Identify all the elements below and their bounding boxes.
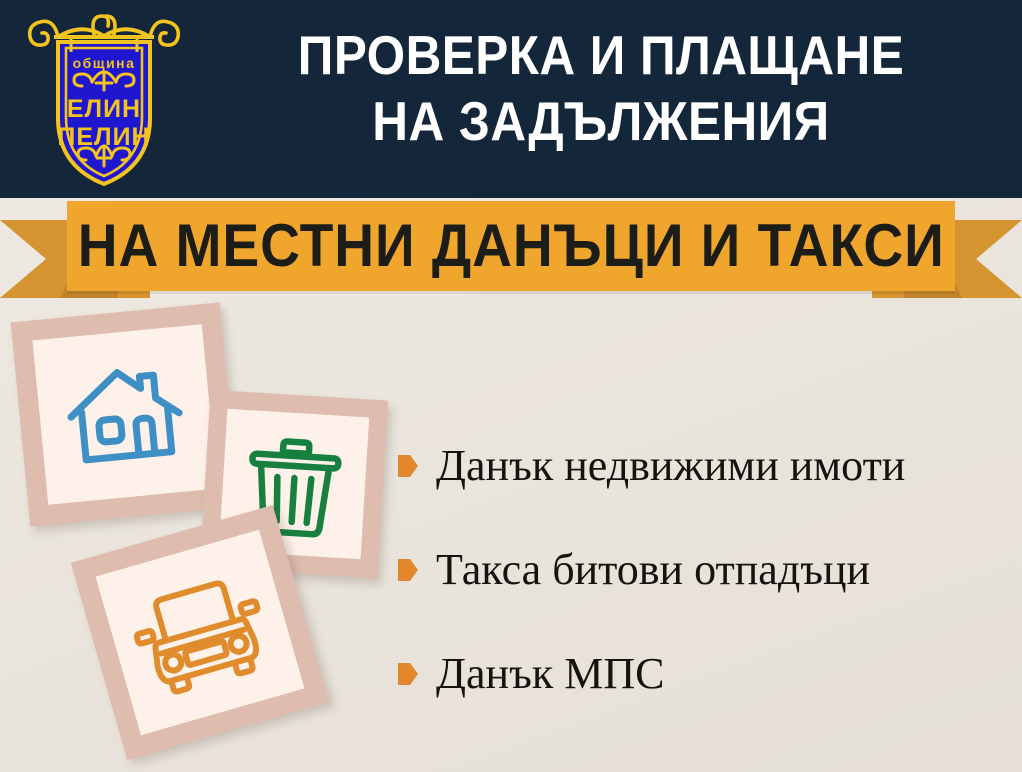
elin-pelin-coat-of-arms-logo: община ЕЛИН ПЕЛИН (24, 6, 184, 192)
logo-name-line-1: ЕЛИН (67, 95, 141, 123)
ribbon-main-panel: НА МЕСТНИ ДАНЪЦИ И ТАКСИ (67, 201, 955, 291)
list-item[interactable]: Такса битови отпадъци (398, 518, 1018, 622)
poster-canvas: община ЕЛИН ПЕЛИН (0, 0, 1022, 772)
ribbon-text: НА МЕСТНИ ДАНЪЦИ И ТАКСИ (77, 215, 944, 277)
tax-item-label: Данък недвижими имоти (436, 441, 905, 491)
arrow-bullet-icon (398, 455, 418, 477)
car-icon (122, 561, 278, 704)
vehicle-stamp-paper (96, 530, 305, 735)
subtitle-ribbon: НА МЕСТНИ ДАНЪЦИ И ТАКСИ (0, 198, 1022, 316)
header-bar: община ЕЛИН ПЕЛИН (0, 0, 1022, 198)
header-title-line-1: ПРОВЕРКА И ПЛАЩАНЕ (237, 22, 966, 88)
header-title-line-2: НА ЗАДЪЛЖЕНИЯ (237, 88, 966, 154)
list-item[interactable]: Данък МПС (398, 622, 1018, 726)
tax-types-list: Данък недвижими имоти Такса битови отпад… (398, 414, 1018, 726)
arrow-bullet-icon (398, 559, 418, 581)
header-title-group: ПРОВЕРКА И ПЛАЩАНЕ НА ЗАДЪЛЖЕНИЯ (196, 22, 1006, 154)
logo-small-label: община (73, 55, 136, 71)
list-item[interactable]: Данък недвижими имоти (398, 414, 1018, 518)
arrow-bullet-icon (398, 663, 418, 685)
property-stamp-paper (32, 324, 217, 505)
tax-item-label: Данък МПС (436, 649, 664, 699)
house-icon (60, 354, 190, 475)
tax-item-label: Такса битови отпадъци (436, 545, 870, 595)
